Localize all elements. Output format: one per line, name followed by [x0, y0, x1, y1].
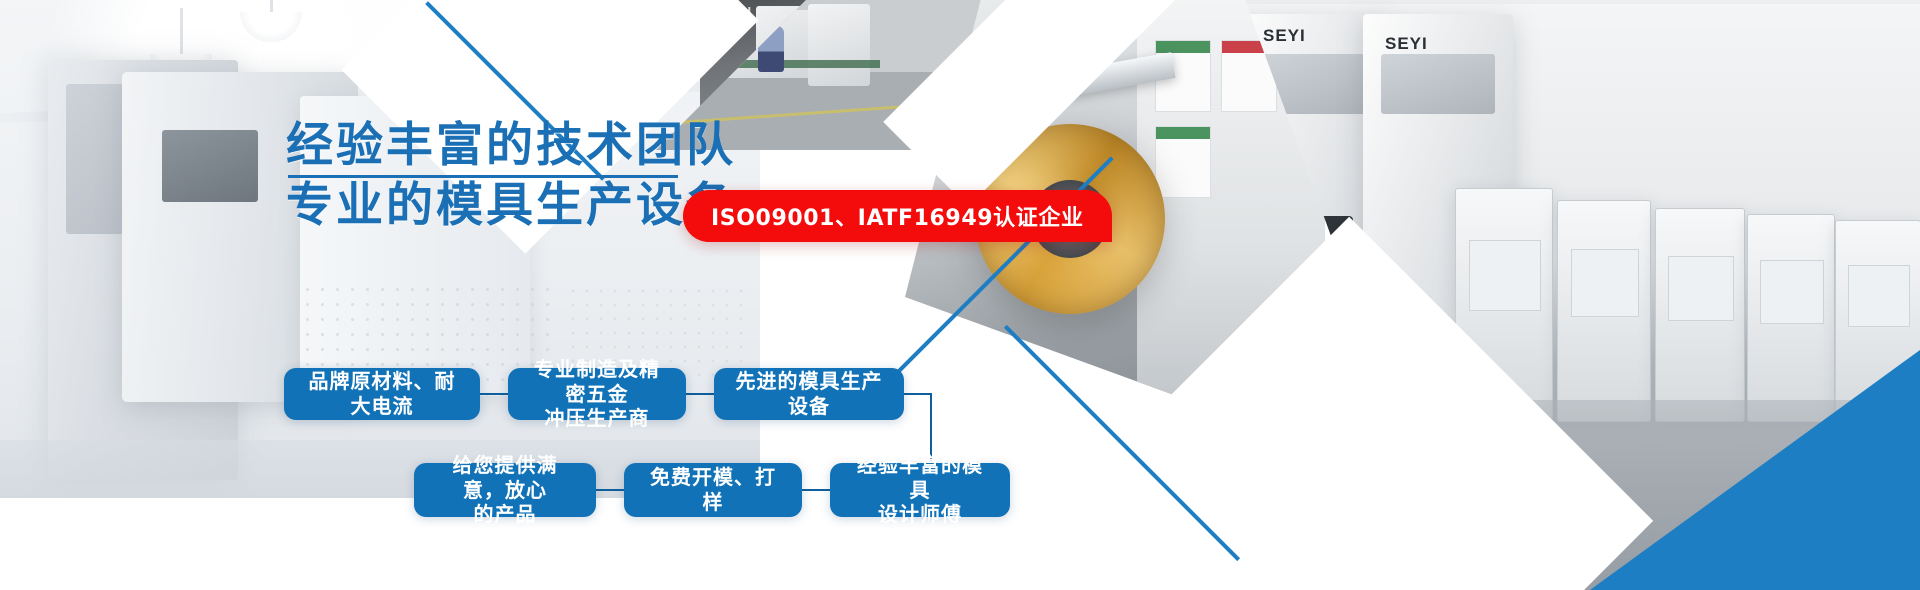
feature-pill-advanced-equipment[interactable]: 先进的模具生产设备: [714, 368, 904, 420]
headline-line-2: 专业的模具生产设备: [286, 182, 736, 231]
pendant-lamp-icon: [240, 12, 302, 42]
iso-certification-badge: ISO09001、IATF16949认证企业: [683, 190, 1112, 242]
pill-connector: [802, 489, 830, 491]
promo-banner: KYORI SEYI SEYI: [0, 0, 1920, 590]
headline-line-1: 经验丰富的技术团队: [286, 122, 736, 171]
ceiling-line: [1245, 0, 1920, 4]
accent-corner-triangle: [1590, 350, 1920, 590]
pill-connector: [480, 393, 508, 395]
press-brand-label: SEYI: [1263, 26, 1306, 46]
press-brand-label: SEYI: [1385, 34, 1428, 54]
iso-badge-label: ISO09001、IATF16949认证企业: [711, 200, 1084, 232]
feature-pill-satisfying-products[interactable]: 给您提供满意，放心的产品: [414, 463, 596, 517]
feature-pill-precision-manufacturer[interactable]: 专业制造及精密五金冲压生产商: [508, 368, 686, 420]
pill-connector: [596, 489, 624, 491]
headline-block: 经验丰富的技术团队 专业的模具生产设备: [286, 122, 736, 231]
feature-pill-free-mold-sampling[interactable]: 免费开模、打样: [624, 463, 802, 517]
pill-connector: [904, 393, 932, 395]
machine-unit: [808, 4, 870, 86]
feature-pill-experienced-designers[interactable]: 经验丰富的模具设计师傅: [830, 463, 1010, 517]
feature-pill-brand-materials[interactable]: 品牌原材料、耐大电流: [284, 368, 480, 420]
wall-poster: [1155, 126, 1211, 198]
pill-connector: [686, 393, 714, 395]
